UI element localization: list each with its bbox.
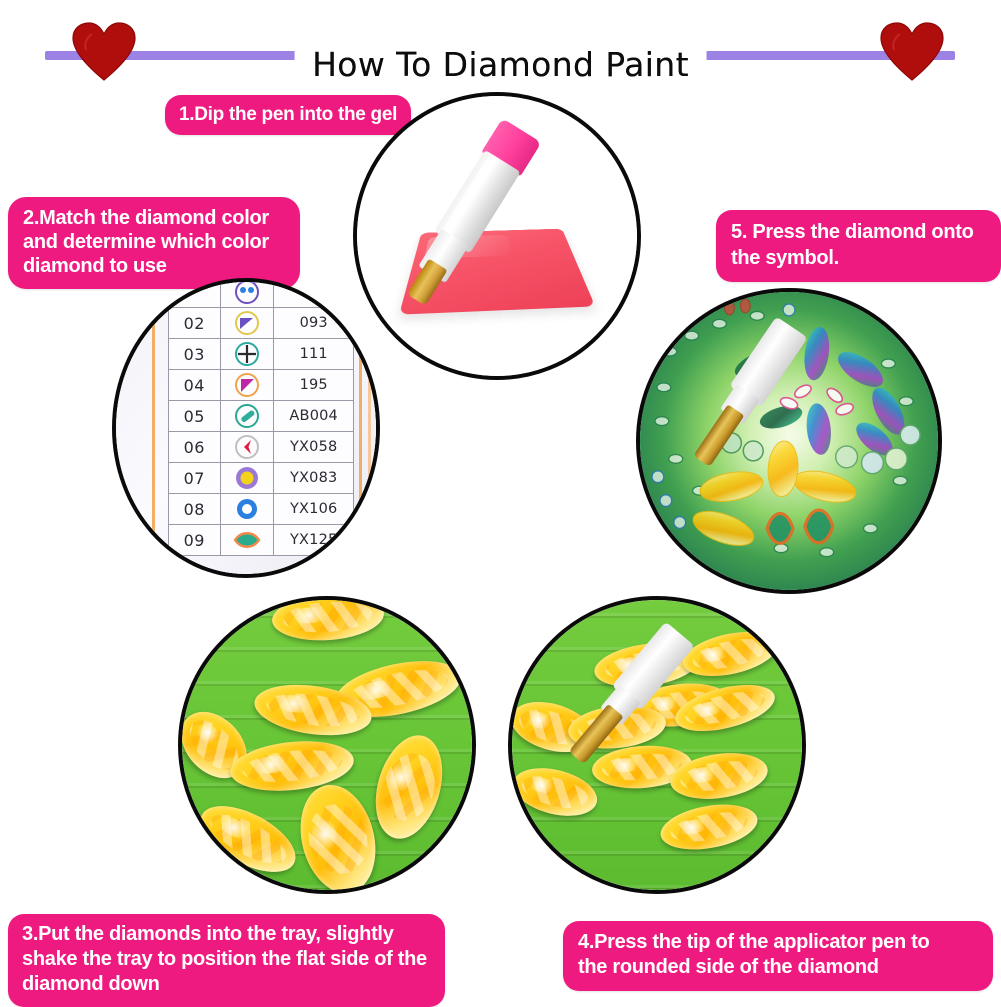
- row-code: YX058: [274, 432, 354, 463]
- heart-icon-left: [72, 22, 136, 82]
- row-code: AB004: [274, 401, 354, 432]
- chart-orange-stripe-left: [152, 282, 155, 574]
- step-2-label-line-1: 2.Match the diamond color: [23, 206, 285, 230]
- double-dot-circle-icon: [220, 282, 274, 308]
- magenta-triangle-circle-icon: [220, 370, 274, 401]
- row-code: YX106: [274, 494, 354, 525]
- diamond-gem: [657, 798, 761, 856]
- row-code: YX083: [274, 463, 354, 494]
- row-index: 04: [169, 370, 221, 401]
- row-index: 07: [169, 463, 221, 494]
- filled-triangle-circle-icon: [220, 308, 274, 339]
- row-code: 111: [274, 339, 354, 370]
- table-row: 04 195: [169, 370, 354, 401]
- scene-green-tray: [182, 600, 472, 890]
- color-legend-table: 028 02 093 03: [168, 282, 354, 556]
- step-2-label-line-2: and determine which color: [23, 230, 285, 254]
- step-4-label: 4.Press the tip of the applicator pen to…: [563, 921, 993, 991]
- chart-orange-stripe-right: [359, 282, 362, 574]
- step-5-label-line-2: the symbol.: [731, 245, 986, 271]
- table-row: 07 YX083: [169, 463, 354, 494]
- color-legend-body: 028 02 093 03: [169, 282, 354, 556]
- step-3-label: 3.Put the diamonds into the tray, slight…: [8, 914, 445, 1007]
- diagonal-bar-circle-icon: [220, 401, 274, 432]
- scene-green-tray: [512, 600, 802, 890]
- scene-pen-gel: [357, 96, 637, 376]
- teal-leaf-circle-icon: [220, 525, 274, 556]
- step-3-label-line-1: 3.Put the diamonds into the tray, slight…: [22, 922, 431, 947]
- step-5-label-line-1: 5. Press the diamond onto: [731, 219, 986, 245]
- table-row: 02 093: [169, 308, 354, 339]
- photo-diamonds-in-green-tray: [178, 596, 476, 894]
- step-2-label-line-3: diamond to use: [23, 254, 285, 278]
- row-code: 028: [274, 282, 354, 308]
- table-row: 09 YX125: [169, 525, 354, 556]
- step-2-label: 2.Match the diamond color and determine …: [8, 197, 300, 289]
- scene-color-chart: 028 02 093 03: [116, 282, 376, 574]
- table-row: 08 YX106: [169, 494, 354, 525]
- infographic-canvas: How To Diamond Paint 1.Dip the pen into …: [0, 0, 1001, 1001]
- photo-color-symbol-chart: 028 02 093 03: [112, 278, 380, 578]
- row-index: [169, 282, 221, 308]
- row-index: 08: [169, 494, 221, 525]
- row-index: 02: [169, 308, 221, 339]
- table-row: 05 AB004: [169, 401, 354, 432]
- step-5-label: 5. Press the diamond onto the symbol.: [716, 210, 1001, 282]
- diamond-gem: [190, 793, 305, 886]
- step-4-label-line-2: the rounded side of the diamond: [578, 955, 978, 980]
- step-3-label-line-3: diamond down: [22, 972, 431, 997]
- row-index: 06: [169, 432, 221, 463]
- photo-placing-diamond-on-canvas: [636, 288, 942, 594]
- chart-orange-stripe-right-2: [368, 282, 371, 574]
- plus-circle-icon: [220, 339, 274, 370]
- heart-icon-right: [880, 22, 944, 82]
- diamond-gem: [365, 728, 454, 847]
- photo-pen-picking-up-diamond: [508, 596, 806, 894]
- row-code: 195: [274, 370, 354, 401]
- row-code: YX125: [274, 525, 354, 556]
- header: How To Diamond Paint: [0, 0, 1001, 90]
- row-index: 09: [169, 525, 221, 556]
- scene-canvas-mandala: [640, 292, 938, 590]
- diamond-gem: [271, 600, 386, 644]
- table-row: 06 YX058: [169, 432, 354, 463]
- left-arrow-circle-icon: [220, 432, 274, 463]
- step-3-label-line-2: shake the tray to position the flat side…: [22, 947, 431, 972]
- table-row: 03 111: [169, 339, 354, 370]
- table-row: 028: [169, 282, 354, 308]
- diamond-gem: [290, 777, 386, 890]
- row-index: 05: [169, 401, 221, 432]
- blue-ring-circle-icon: [220, 494, 274, 525]
- step-4-label-line-1: 4.Press the tip of the applicator pen to: [578, 930, 978, 955]
- page-title: How To Diamond Paint: [294, 42, 707, 88]
- yellow-dot-circle-icon: [220, 463, 274, 494]
- row-code: 093: [274, 308, 354, 339]
- row-index: 03: [169, 339, 221, 370]
- photo-pen-dipping-into-gel: [353, 92, 641, 380]
